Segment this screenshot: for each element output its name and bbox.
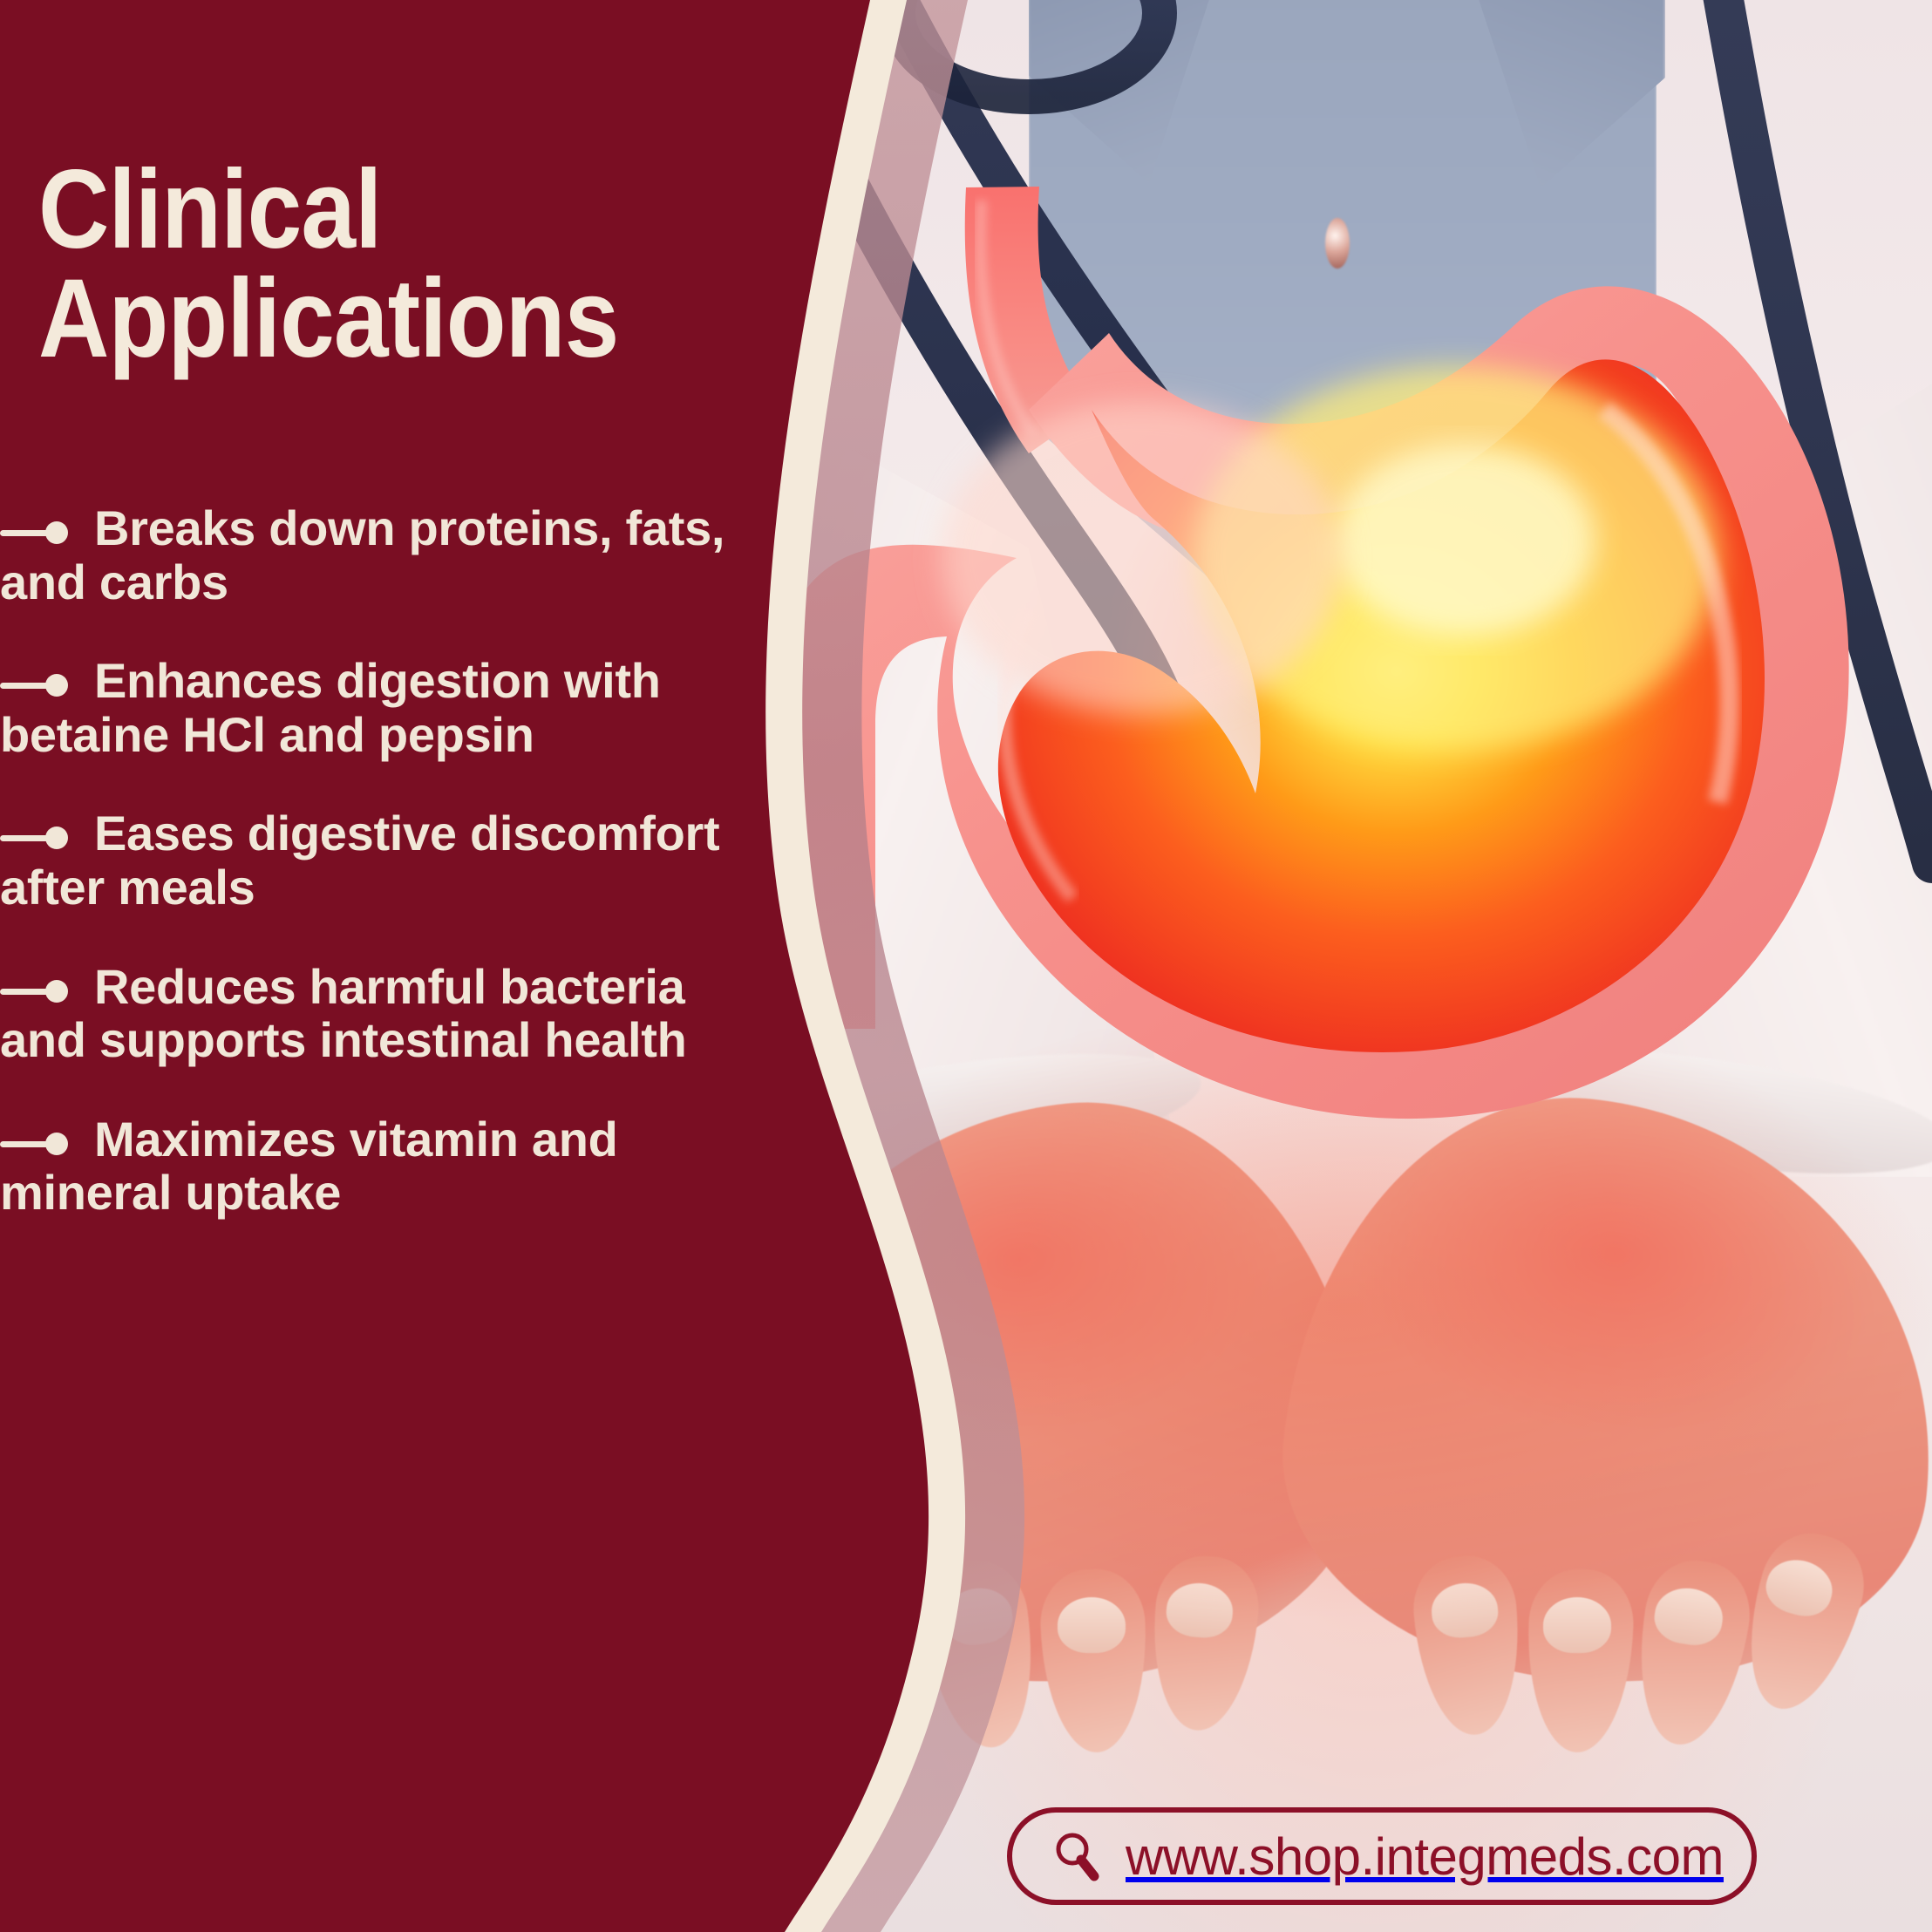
website-url-text: www.shop.integmeds.com bbox=[1126, 1827, 1724, 1887]
fingernail bbox=[1543, 1597, 1611, 1653]
doctor-photo bbox=[767, 0, 1932, 1932]
website-url-button[interactable]: www.shop.integmeds.com bbox=[1007, 1807, 1757, 1905]
left-content-panel: Clinical Applications Breaks down protei… bbox=[0, 0, 785, 1932]
bullet-marker-icon bbox=[0, 1132, 92, 1154]
list-item: Enhances digestion with betaine HCl and … bbox=[0, 654, 767, 761]
bullet-marker-icon bbox=[0, 979, 92, 1002]
list-item-label: Eases digestive discomfort after meals bbox=[0, 806, 719, 915]
list-item-label: Breaks down proteins, fats, and carbs bbox=[0, 500, 724, 609]
list-item-label: Enhances digestion with betaine HCl and … bbox=[0, 653, 661, 762]
poster-canvas: Clinical Applications Breaks down protei… bbox=[0, 0, 1932, 1932]
list-item-label: Reduces harmful bacteria and supports in… bbox=[0, 959, 687, 1068]
fingernail bbox=[1058, 1597, 1126, 1653]
page-title: Clinical Applications bbox=[38, 155, 668, 374]
list-item: Maximizes vitamin and mineral uptake bbox=[0, 1112, 767, 1220]
list-item-label: Maximizes vitamin and mineral uptake bbox=[0, 1112, 618, 1221]
title-line-2: Applications bbox=[38, 256, 618, 381]
bullet-marker-icon bbox=[0, 673, 92, 696]
stethoscope-icon bbox=[767, 0, 1932, 907]
title-line-1: Clinical bbox=[38, 147, 382, 272]
magnifying-glass-icon bbox=[1052, 1831, 1103, 1881]
bullet-marker-icon bbox=[0, 520, 92, 543]
list-item: Reduces harmful bacteria and supports in… bbox=[0, 960, 767, 1067]
list-item: Breaks down proteins, fats, and carbs bbox=[0, 501, 767, 609]
list-item: Eases digestive discomfort after meals bbox=[0, 806, 767, 914]
bullet-marker-icon bbox=[0, 826, 92, 848]
benefits-list: Breaks down proteins, fats, and carbs En… bbox=[0, 501, 767, 1265]
